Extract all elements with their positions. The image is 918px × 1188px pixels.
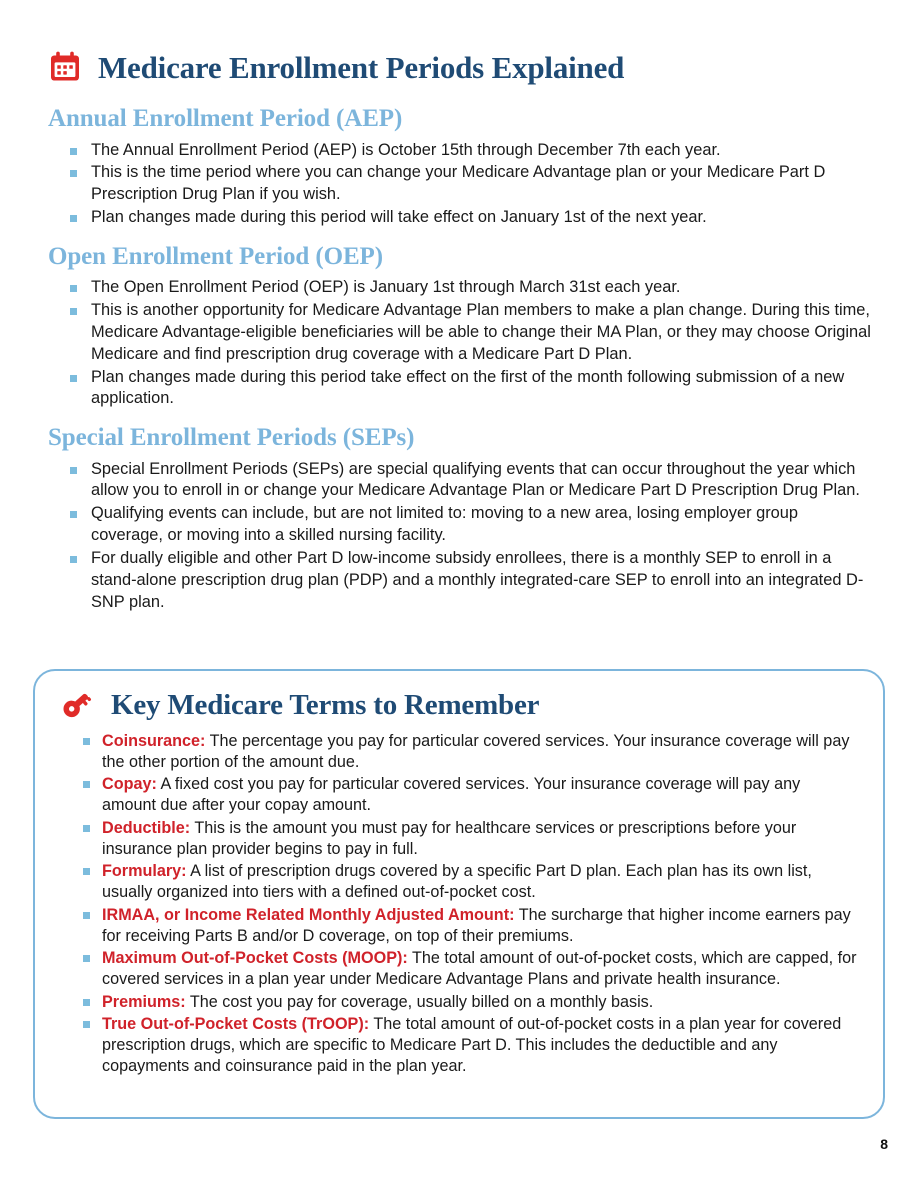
term-definition: This is the amount you must pay for heal… [102, 819, 796, 858]
page-header: Medicare Enrollment Periods Explained [48, 50, 624, 84]
term-label: True Out-of-Pocket Costs (TrOOP): [102, 1015, 369, 1033]
list-item: Special Enrollment Periods (SEPs) are sp… [70, 459, 874, 503]
section-heading-seps: Special Enrollment Periods (SEPs) [48, 423, 874, 453]
list-item: IRMAA, or Income Related Monthly Adjuste… [83, 905, 857, 947]
page-number: 8 [880, 1136, 888, 1152]
term-label: Maximum Out-of-Pocket Costs (MOOP): [102, 949, 408, 967]
list-item: This is another opportunity for Medicare… [70, 300, 874, 365]
document-page: Medicare Enrollment Periods Explained An… [0, 0, 918, 1188]
enrollment-sections: Annual Enrollment Period (AEP) The Annua… [48, 104, 874, 614]
section-aep: Annual Enrollment Period (AEP) The Annua… [48, 104, 874, 229]
list-item: Coinsurance: The percentage you pay for … [83, 731, 857, 773]
term-definition: The percentage you pay for particular co… [102, 732, 849, 771]
term-label: IRMAA, or Income Related Monthly Adjuste… [102, 906, 514, 924]
list-item: True Out-of-Pocket Costs (TrOOP): The to… [83, 1014, 857, 1077]
bullet-list-aep: The Annual Enrollment Period (AEP) is Oc… [48, 140, 874, 229]
term-definition: The cost you pay for coverage, usually b… [186, 993, 654, 1011]
key-icon [59, 688, 93, 722]
list-item: Plan changes made during this period tak… [70, 367, 874, 411]
key-terms-title: Key Medicare Terms to Remember [111, 691, 539, 720]
term-definition: A list of prescription drugs covered by … [102, 862, 812, 901]
term-label: Formulary: [102, 862, 187, 880]
bullet-list-oep: The Open Enrollment Period (OEP) is Janu… [48, 277, 874, 410]
page-title: Medicare Enrollment Periods Explained [98, 52, 624, 83]
term-label: Coinsurance: [102, 732, 205, 750]
term-definition: A fixed cost you pay for particular cove… [102, 775, 800, 814]
section-heading-oep: Open Enrollment Period (OEP) [48, 242, 874, 272]
list-item: Qualifying events can include, but are n… [70, 503, 874, 547]
list-item: This is the time period where you can ch… [70, 162, 874, 206]
term-label: Copay: [102, 775, 157, 793]
key-terms-list: Coinsurance: The percentage you pay for … [35, 731, 883, 1077]
key-terms-header: Key Medicare Terms to Remember [35, 671, 883, 722]
bullet-list-seps: Special Enrollment Periods (SEPs) are sp… [48, 459, 874, 614]
list-item: Deductible: This is the amount you must … [83, 818, 857, 860]
section-oep: Open Enrollment Period (OEP) The Open En… [48, 242, 874, 410]
list-item: Copay: A fixed cost you pay for particul… [83, 774, 857, 816]
list-item: Formulary: A list of prescription drugs … [83, 861, 857, 903]
term-label: Premiums: [102, 993, 186, 1011]
section-seps: Special Enrollment Periods (SEPs) Specia… [48, 423, 874, 613]
term-label: Deductible: [102, 819, 190, 837]
calendar-icon [48, 50, 82, 84]
list-item: Maximum Out-of-Pocket Costs (MOOP): The … [83, 948, 857, 990]
list-item: Premiums: The cost you pay for coverage,… [83, 992, 857, 1013]
list-item: The Open Enrollment Period (OEP) is Janu… [70, 277, 874, 299]
list-item: Plan changes made during this period wil… [70, 207, 874, 229]
key-terms-callout: Key Medicare Terms to Remember Coinsuran… [33, 669, 885, 1119]
section-heading-aep: Annual Enrollment Period (AEP) [48, 104, 874, 134]
list-item: For dually eligible and other Part D low… [70, 548, 874, 613]
list-item: The Annual Enrollment Period (AEP) is Oc… [70, 140, 874, 162]
